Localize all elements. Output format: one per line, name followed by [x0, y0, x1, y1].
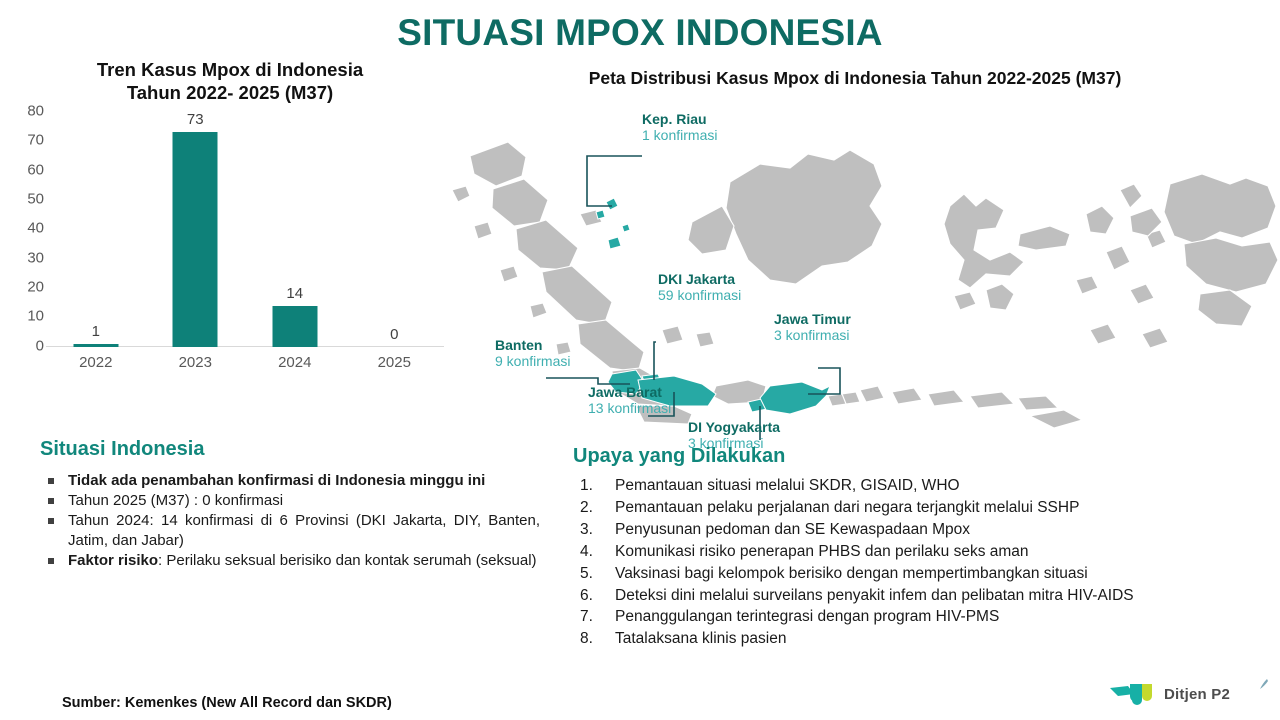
map-label-province: DKI Jakarta [658, 272, 741, 288]
situasi-item-rest: : Perilaku seksual berisiko dan kontak s… [158, 552, 537, 569]
list-number: 6. [580, 587, 593, 606]
situasi-item-bold: Tidak ada penambahan konfirmasi di Indon… [68, 472, 485, 489]
situasi-item-rest: Tahun 2024: 14 konfirmasi di 6 Provinsi … [68, 512, 540, 548]
list-item: 5.Vaksinasi bagi kelompok berisiko denga… [573, 565, 1263, 584]
y-tick: 0 [4, 338, 44, 355]
y-tick: 20 [4, 279, 44, 296]
chart-title-line1: Tren Kasus Mpox di Indonesia [10, 58, 450, 81]
list-number: 3. [580, 521, 593, 540]
province-kep-riau-islet-4 [622, 224, 630, 232]
situasi-list: Tidak ada penambahan konfirmasi di Indon… [40, 471, 540, 570]
map-label-confirmations: 13 konfirmasi [588, 401, 671, 417]
map-label-jawa-barat: Jawa Barat 13 konfirmasi [588, 385, 671, 416]
list-item: 7.Penanggulangan terintegrasi dengan pro… [573, 608, 1263, 627]
list-text: Deteksi dini melalui surveilans penyakit… [615, 587, 1134, 604]
bar-column-2024[interactable]: 14 [245, 110, 345, 347]
y-tick: 70 [4, 132, 44, 149]
map-base-provinces [452, 142, 1278, 428]
situasi-item-rest: Tahun 2025 (M37) : 0 konfirmasi [68, 492, 283, 509]
y-tick: 60 [4, 162, 44, 179]
upaya-section: Upaya yang Dilakukan 1.Pemantauan situas… [573, 445, 1263, 652]
y-tick: 10 [4, 308, 44, 325]
list-text: Penyusunan pedoman dan SE Kewaspadaan Mp… [615, 521, 970, 538]
map-title: Peta Distribusi Kasus Mpox di Indonesia … [430, 68, 1280, 89]
list-text: Penanggulangan terintegrasi dengan progr… [615, 608, 999, 625]
map-label-kep-riau: Kep. Riau 1 konfirmasi [642, 112, 717, 143]
list-text: Pemantauan situasi melalui SKDR, GISAID,… [615, 477, 960, 494]
map-label-dki-jakarta: DKI Jakarta 59 konfirmasi [658, 272, 741, 303]
province-kep-riau [606, 198, 618, 210]
bar-value-2025: 0 [390, 326, 398, 343]
list-text: Vaksinasi bagi kelompok berisiko dengan … [615, 565, 1088, 582]
y-tick: 50 [4, 191, 44, 208]
trend-chart: Tren Kasus Mpox di Indonesia Tahun 2022-… [0, 58, 460, 398]
bar-column-2022[interactable]: 1 [46, 110, 146, 347]
list-number: 2. [580, 499, 593, 518]
list-text: Tatalaksana klinis pasien [615, 630, 786, 647]
indonesia-map-svg [430, 94, 1280, 440]
bar-value-2023: 73 [187, 111, 204, 128]
page-title: SITUASI MPOX INDONESIA [0, 12, 1280, 54]
province-kep-riau-islet-3 [608, 237, 621, 249]
map-label-province: Jawa Timur [774, 312, 851, 328]
list-number: 4. [580, 543, 593, 562]
list-item: 8.Tatalaksana klinis pasien [573, 630, 1263, 649]
bar-value-2024: 14 [286, 285, 303, 302]
map-label-province: Jawa Barat [588, 385, 671, 401]
chart-bars: 1 73 14 0 [46, 110, 444, 347]
list-number: 8. [580, 630, 593, 649]
chart-x-axis: 2022 2023 2024 2025 [46, 354, 444, 384]
droplet-logo-icon [1108, 678, 1158, 712]
x-label-2023: 2023 [146, 354, 246, 371]
y-tick: 40 [4, 220, 44, 237]
list-number: 7. [580, 608, 593, 627]
y-tick: 30 [4, 250, 44, 267]
list-text: Komunikasi risiko penerapan PHBS dan per… [615, 543, 1029, 560]
list-item: 1.Pemantauan situasi melalui SKDR, GISAI… [573, 477, 1263, 496]
chart-y-axis: 0 10 20 30 40 50 60 70 80 [0, 110, 44, 350]
map-label-jawa-timur: Jawa Timur 3 konfirmasi [774, 312, 851, 343]
chart-plot-area: 0 10 20 30 40 50 60 70 80 1 73 [0, 110, 460, 400]
bar-2024[interactable] [272, 306, 317, 347]
source-note: Sumber: Kemenkes (New All Record dan SKD… [62, 695, 392, 711]
list-item: 3.Penyusunan pedoman dan SE Kewaspadaan … [573, 521, 1263, 540]
map-label-province: Kep. Riau [642, 112, 717, 128]
ditjen-p2-logo: Ditjen P2 [1108, 678, 1268, 714]
slide-root: SITUASI MPOX INDONESIA Tren Kasus Mpox d… [0, 0, 1280, 720]
chart-title-line2: Tahun 2022- 2025 (M37) [10, 81, 450, 104]
bar-column-2023[interactable]: 73 [146, 110, 246, 347]
situasi-item-bold: Faktor risiko [68, 552, 158, 569]
distribution-map: Peta Distribusi Kasus Mpox di Indonesia … [430, 60, 1280, 440]
y-tick: 80 [4, 103, 44, 120]
chart-title: Tren Kasus Mpox di Indonesia Tahun 2022-… [10, 58, 450, 104]
map-label-banten: Banten 9 konfirmasi [495, 338, 570, 369]
map-label-confirmations: 1 konfirmasi [642, 128, 717, 144]
list-item: Faktor risiko: Perilaku seksual berisiko… [40, 551, 540, 570]
list-item: 2.Pemantauan pelaku perjalanan dari nega… [573, 499, 1263, 518]
x-label-2022: 2022 [46, 354, 146, 371]
list-item: Tidak ada penambahan konfirmasi di Indon… [40, 471, 540, 490]
x-label-2024: 2024 [245, 354, 345, 371]
map-label-confirmations: 9 konfirmasi [495, 354, 570, 370]
situasi-section: Situasi Indonesia Tidak ada penambahan k… [40, 438, 540, 571]
situasi-heading: Situasi Indonesia [40, 438, 540, 461]
list-item: 6.Deteksi dini melalui surveilans penyak… [573, 587, 1263, 606]
upaya-heading: Upaya yang Dilakukan [573, 445, 1263, 468]
logo-text: Ditjen P2 [1164, 686, 1230, 703]
map-label-confirmations: 3 konfirmasi [774, 328, 851, 344]
map-label-confirmations: 59 konfirmasi [658, 288, 741, 304]
list-item: Tahun 2024: 14 konfirmasi di 6 Provinsi … [40, 511, 540, 549]
list-item: Tahun 2025 (M37) : 0 konfirmasi [40, 491, 540, 510]
list-text: Pemantauan pelaku perjalanan dari negara… [615, 499, 1079, 516]
sparkle-icon [1256, 678, 1270, 692]
bar-2022[interactable] [73, 344, 118, 347]
bar-value-2022: 1 [92, 323, 100, 340]
province-kep-riau-islet-2 [596, 210, 605, 219]
province-jawa-timur [760, 382, 830, 414]
bar-2023[interactable] [173, 132, 218, 347]
list-item: 4.Komunikasi risiko penerapan PHBS dan p… [573, 543, 1263, 562]
map-label-province: DI Yogyakarta [688, 420, 780, 436]
list-number: 1. [580, 477, 593, 496]
upaya-list: 1.Pemantauan situasi melalui SKDR, GISAI… [573, 477, 1263, 649]
map-label-province: Banten [495, 338, 570, 354]
list-number: 5. [580, 565, 593, 584]
